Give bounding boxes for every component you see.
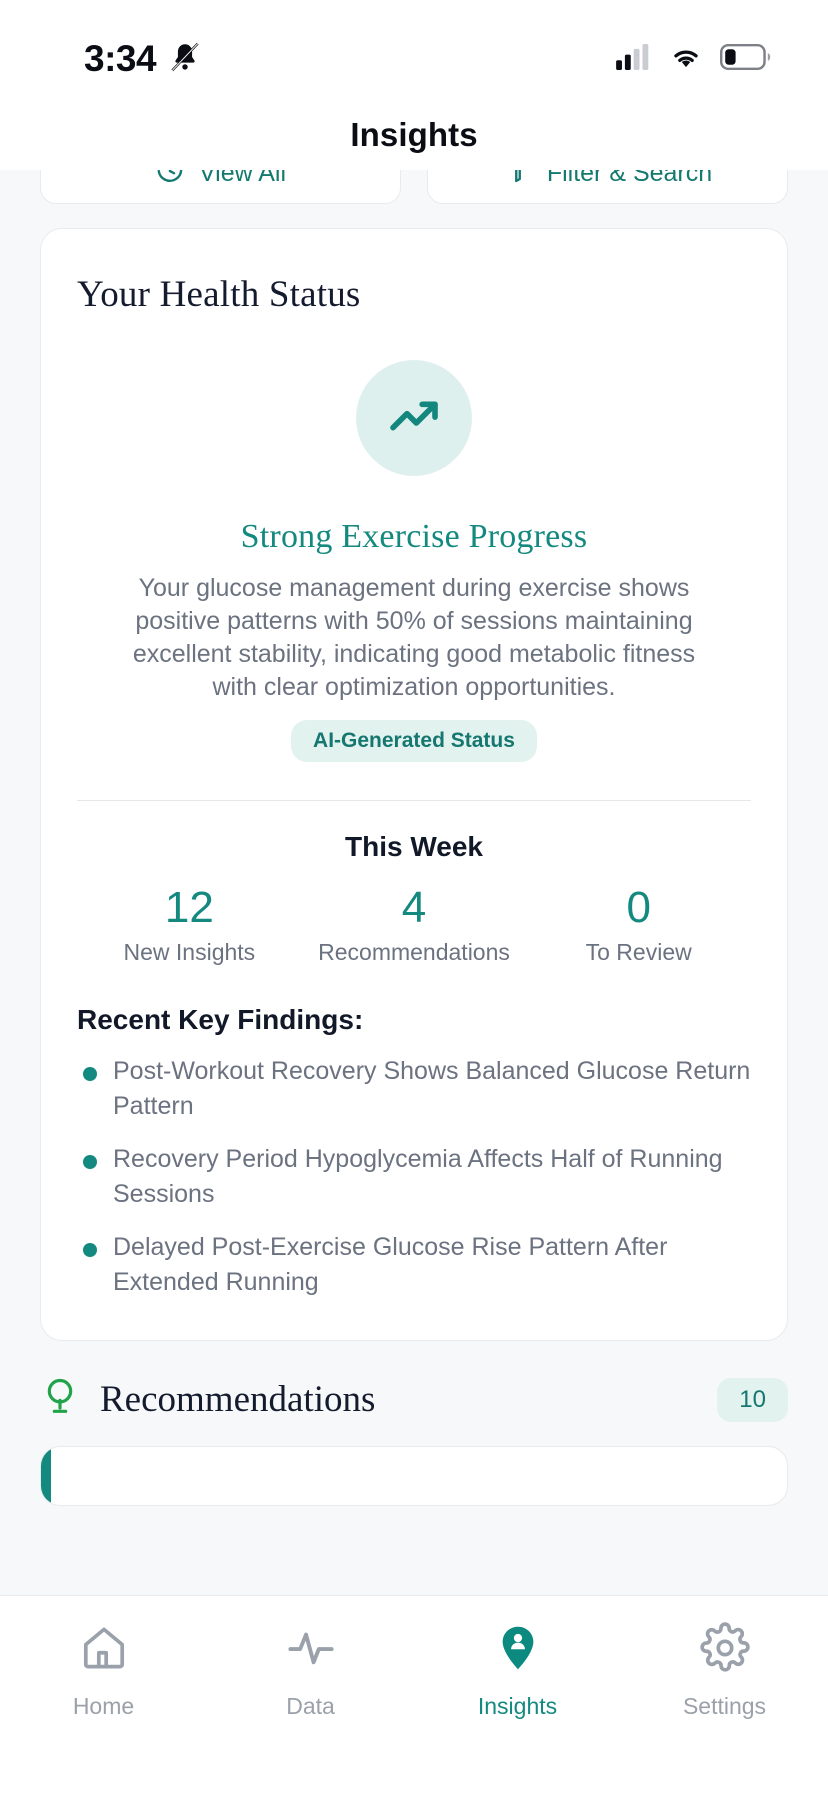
status-bar-left: 3:34 bbox=[84, 38, 202, 80]
tab-settings[interactable]: Settings bbox=[621, 1622, 828, 1795]
finding-text: Delayed Post-Exercise Glucose Rise Patte… bbox=[113, 1230, 751, 1300]
list-item[interactable]: Delayed Post-Exercise Glucose Rise Patte… bbox=[77, 1230, 751, 1300]
tab-insights[interactable]: Insights bbox=[414, 1622, 621, 1795]
stat-label: Recommendations bbox=[302, 939, 527, 966]
lightbulb-icon bbox=[40, 1375, 80, 1424]
recommendation-card[interactable] bbox=[40, 1446, 788, 1506]
battery-low-icon bbox=[720, 44, 772, 75]
phone-screen: 3:34 bbox=[0, 0, 828, 1795]
wifi-icon bbox=[668, 44, 704, 75]
recommendations-count-badge: 10 bbox=[717, 1378, 788, 1422]
filter-search-label: Filter & Search bbox=[547, 170, 712, 188]
trending-up-icon bbox=[386, 388, 442, 449]
navigation-bar: Insights bbox=[0, 100, 828, 170]
finding-text: Recovery Period Hypoglycemia Affects Hal… bbox=[113, 1142, 751, 1212]
recommendations-title: Recommendations bbox=[100, 1378, 717, 1421]
tab-label: Insights bbox=[478, 1693, 557, 1720]
stat-to-review: 0 To Review bbox=[526, 885, 751, 966]
home-icon bbox=[78, 1622, 130, 1679]
bell-slash-icon bbox=[168, 40, 202, 79]
funnel-filter-icon bbox=[503, 170, 533, 191]
list-item[interactable]: Post-Workout Recovery Shows Balanced Glu… bbox=[77, 1054, 751, 1124]
scroll-content[interactable]: View All Filter & Search Your Health Sta… bbox=[0, 170, 828, 1595]
weekly-stats-row: 12 New Insights 4 Recommendations 0 To R… bbox=[77, 885, 751, 966]
stat-value: 0 bbox=[526, 885, 751, 931]
stat-value: 12 bbox=[77, 885, 302, 931]
stat-label: To Review bbox=[526, 939, 751, 966]
ai-generated-badge: AI-Generated Status bbox=[291, 720, 537, 762]
history-clock-icon bbox=[155, 170, 185, 191]
bottom-tab-bar: Home Data Insights bbox=[0, 1595, 828, 1795]
bullet-icon bbox=[83, 1243, 97, 1257]
status-summary: Strong Exercise Progress Your glucose ma… bbox=[77, 360, 751, 762]
map-pin-person-icon bbox=[492, 1622, 544, 1679]
tab-label: Settings bbox=[683, 1693, 766, 1720]
stat-recommendations: 4 Recommendations bbox=[302, 885, 527, 966]
bullet-icon bbox=[83, 1155, 97, 1169]
quick-actions-row: View All Filter & Search bbox=[0, 170, 828, 204]
filter-search-button[interactable]: Filter & Search bbox=[427, 170, 788, 204]
tab-label: Data bbox=[286, 1693, 335, 1720]
cellular-signal-icon bbox=[616, 44, 652, 75]
view-all-label: View All bbox=[199, 170, 286, 188]
view-all-button[interactable]: View All bbox=[40, 170, 401, 204]
tab-data[interactable]: Data bbox=[207, 1622, 414, 1795]
status-icon-circle bbox=[356, 360, 472, 476]
tab-label: Home bbox=[73, 1693, 134, 1720]
recent-key-findings-title: Recent Key Findings: bbox=[77, 1004, 751, 1036]
tab-home[interactable]: Home bbox=[0, 1622, 207, 1795]
stat-label: New Insights bbox=[77, 939, 302, 966]
finding-text: Post-Workout Recovery Shows Balanced Glu… bbox=[113, 1054, 751, 1124]
stat-value: 4 bbox=[302, 885, 527, 931]
gear-icon bbox=[699, 1622, 751, 1679]
status-description: Your glucose management during exercise … bbox=[114, 572, 714, 704]
health-status-title: Your Health Status bbox=[77, 273, 751, 316]
status-bar: 3:34 bbox=[0, 0, 828, 100]
status-headline: Strong Exercise Progress bbox=[241, 518, 588, 556]
health-status-card: Your Health Status Strong Exercise Progr… bbox=[40, 228, 788, 1341]
list-item[interactable]: Recovery Period Hypoglycemia Affects Hal… bbox=[77, 1142, 751, 1212]
status-bar-right bbox=[616, 44, 772, 75]
card-divider bbox=[77, 800, 751, 801]
status-bar-clock: 3:34 bbox=[84, 38, 156, 80]
activity-pulse-icon bbox=[285, 1622, 337, 1679]
page-title: Insights bbox=[350, 116, 477, 154]
recommendations-header: Recommendations 10 bbox=[40, 1375, 788, 1424]
this-week-title: This Week bbox=[77, 831, 751, 863]
bullet-icon bbox=[83, 1067, 97, 1081]
stat-new-insights: 12 New Insights bbox=[77, 885, 302, 966]
